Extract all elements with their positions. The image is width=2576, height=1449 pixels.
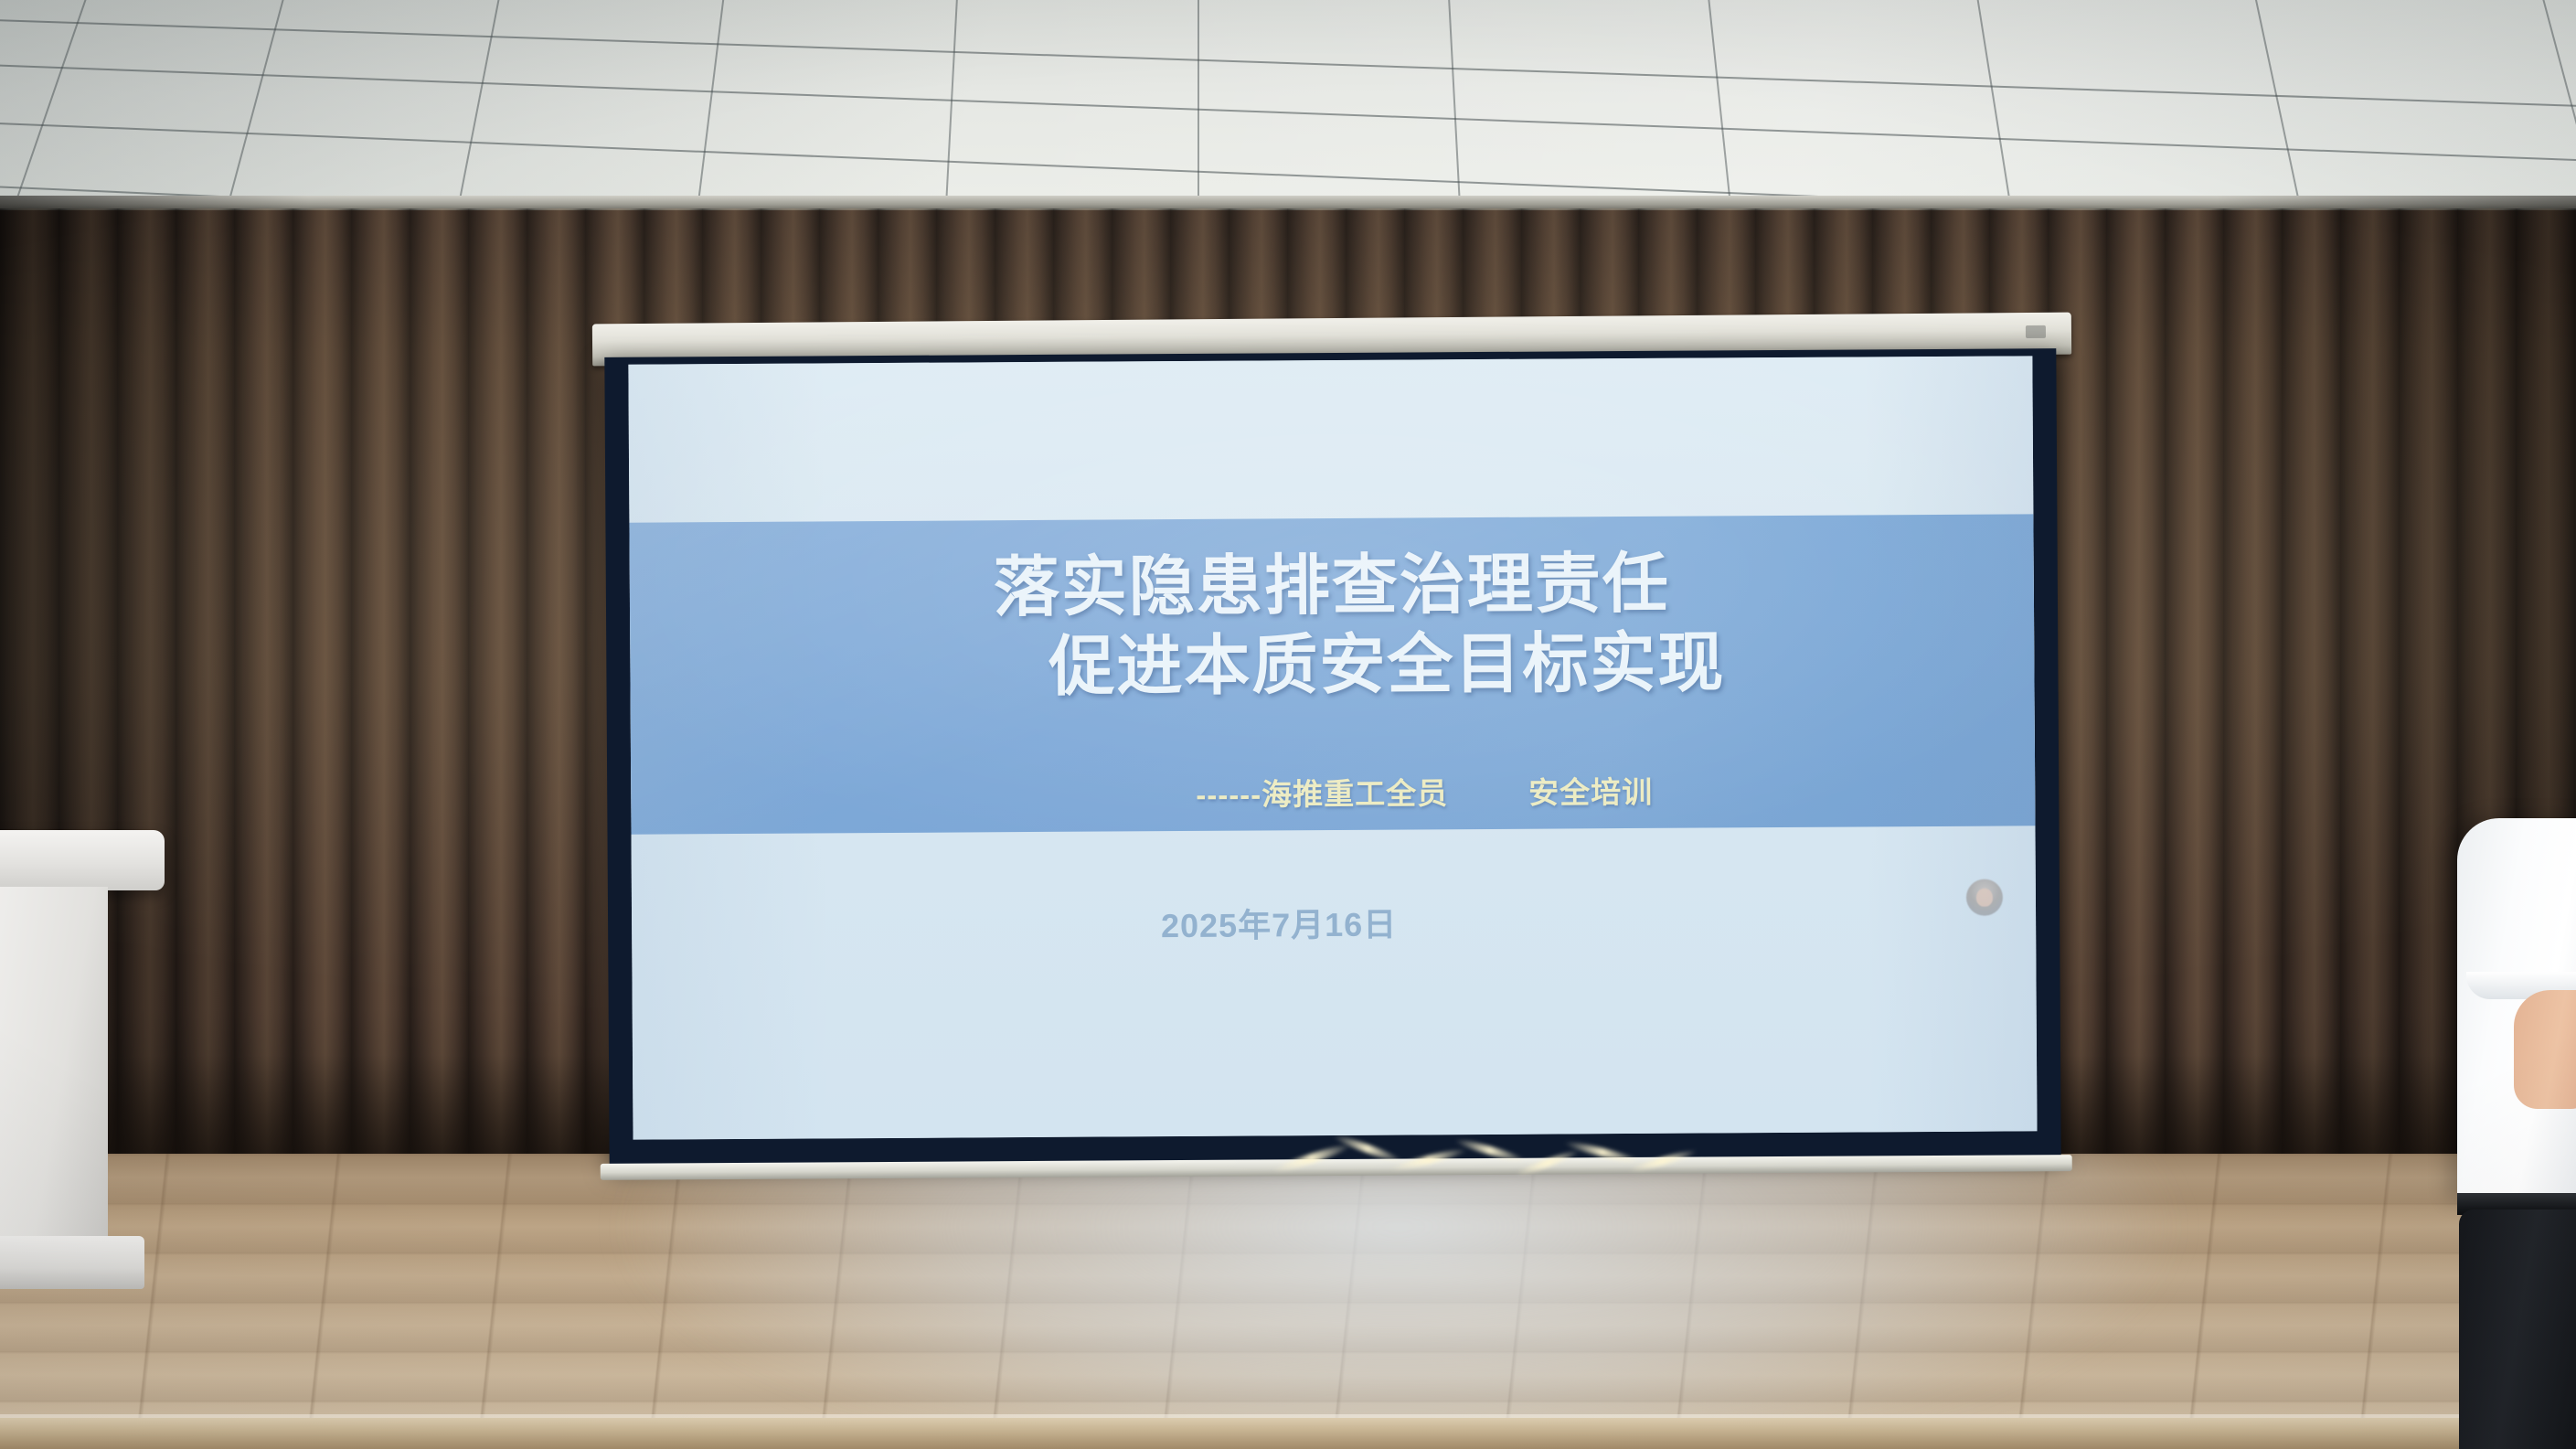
standing-person (2457, 818, 2576, 1449)
slide-title-line-1: 落实隐患排查治理责任 (630, 542, 2035, 631)
podium-top-surface (0, 830, 165, 890)
ceiling-grid-line-v (1198, 0, 1199, 212)
slide-subtitle-right: 安全培训 (1528, 768, 1653, 813)
stage-edge-strip (0, 1418, 2576, 1449)
wood-floor (0, 1154, 2576, 1449)
person-arm (2514, 990, 2576, 1109)
projector-light-spill-on-floor (585, 1154, 2212, 1449)
slide-title-line-2: 促进本质安全目标实现 (630, 623, 2035, 711)
housing-brand-label-icon (2026, 325, 2046, 338)
room-photo-scene: 落实隐患排查治理责任 促进本质安全目标实现 ------海推重工全员 安全培训 … (0, 0, 2576, 1449)
ceiling-panel-grid (0, 0, 2576, 212)
presentation-slide: 落实隐患排查治理责任 促进本质安全目标实现 ------海推重工全员 安全培训 … (628, 356, 2037, 1139)
slide-subtitle-left: ------海推重工全员 (1196, 769, 1448, 815)
projection-screen-surface: 落实隐患排查治理责任 促进本质安全目标实现 ------海推重工全员 安全培训 … (628, 356, 2037, 1139)
slide-subtitle-row: ------海推重工全员 安全培训 (631, 765, 2035, 817)
podium-base (0, 1236, 144, 1289)
person-trousers (2459, 1209, 2576, 1449)
projection-screen[interactable]: 落实隐患排查治理责任 促进本质安全目标实现 ------海推重工全员 安全培训 … (604, 348, 2060, 1166)
slide-date: 2025年7月16日 (632, 895, 2036, 951)
podium-column (0, 887, 108, 1243)
slide-title-block: 落实隐患排查治理责任 促进本质安全目标实现 (630, 542, 2035, 711)
